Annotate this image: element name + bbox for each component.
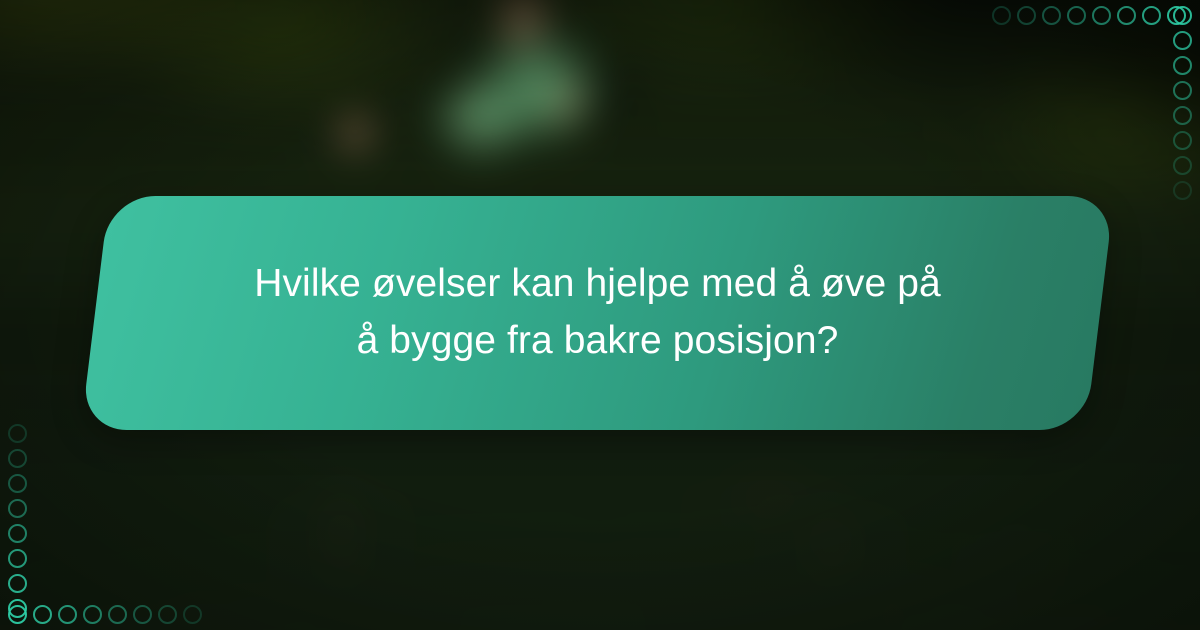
question-text: Hvilke øvelser kan hjelpe med å øve på å… — [248, 256, 948, 369]
question-banner-text-area: Hvilke øvelser kan hjelpe med å øve på å… — [95, 196, 1100, 430]
social-card: Hvilke øvelser kan hjelpe med å øve på å… — [0, 0, 1200, 630]
question-banner: Hvilke øvelser kan hjelpe med å øve på å… — [95, 196, 1100, 430]
